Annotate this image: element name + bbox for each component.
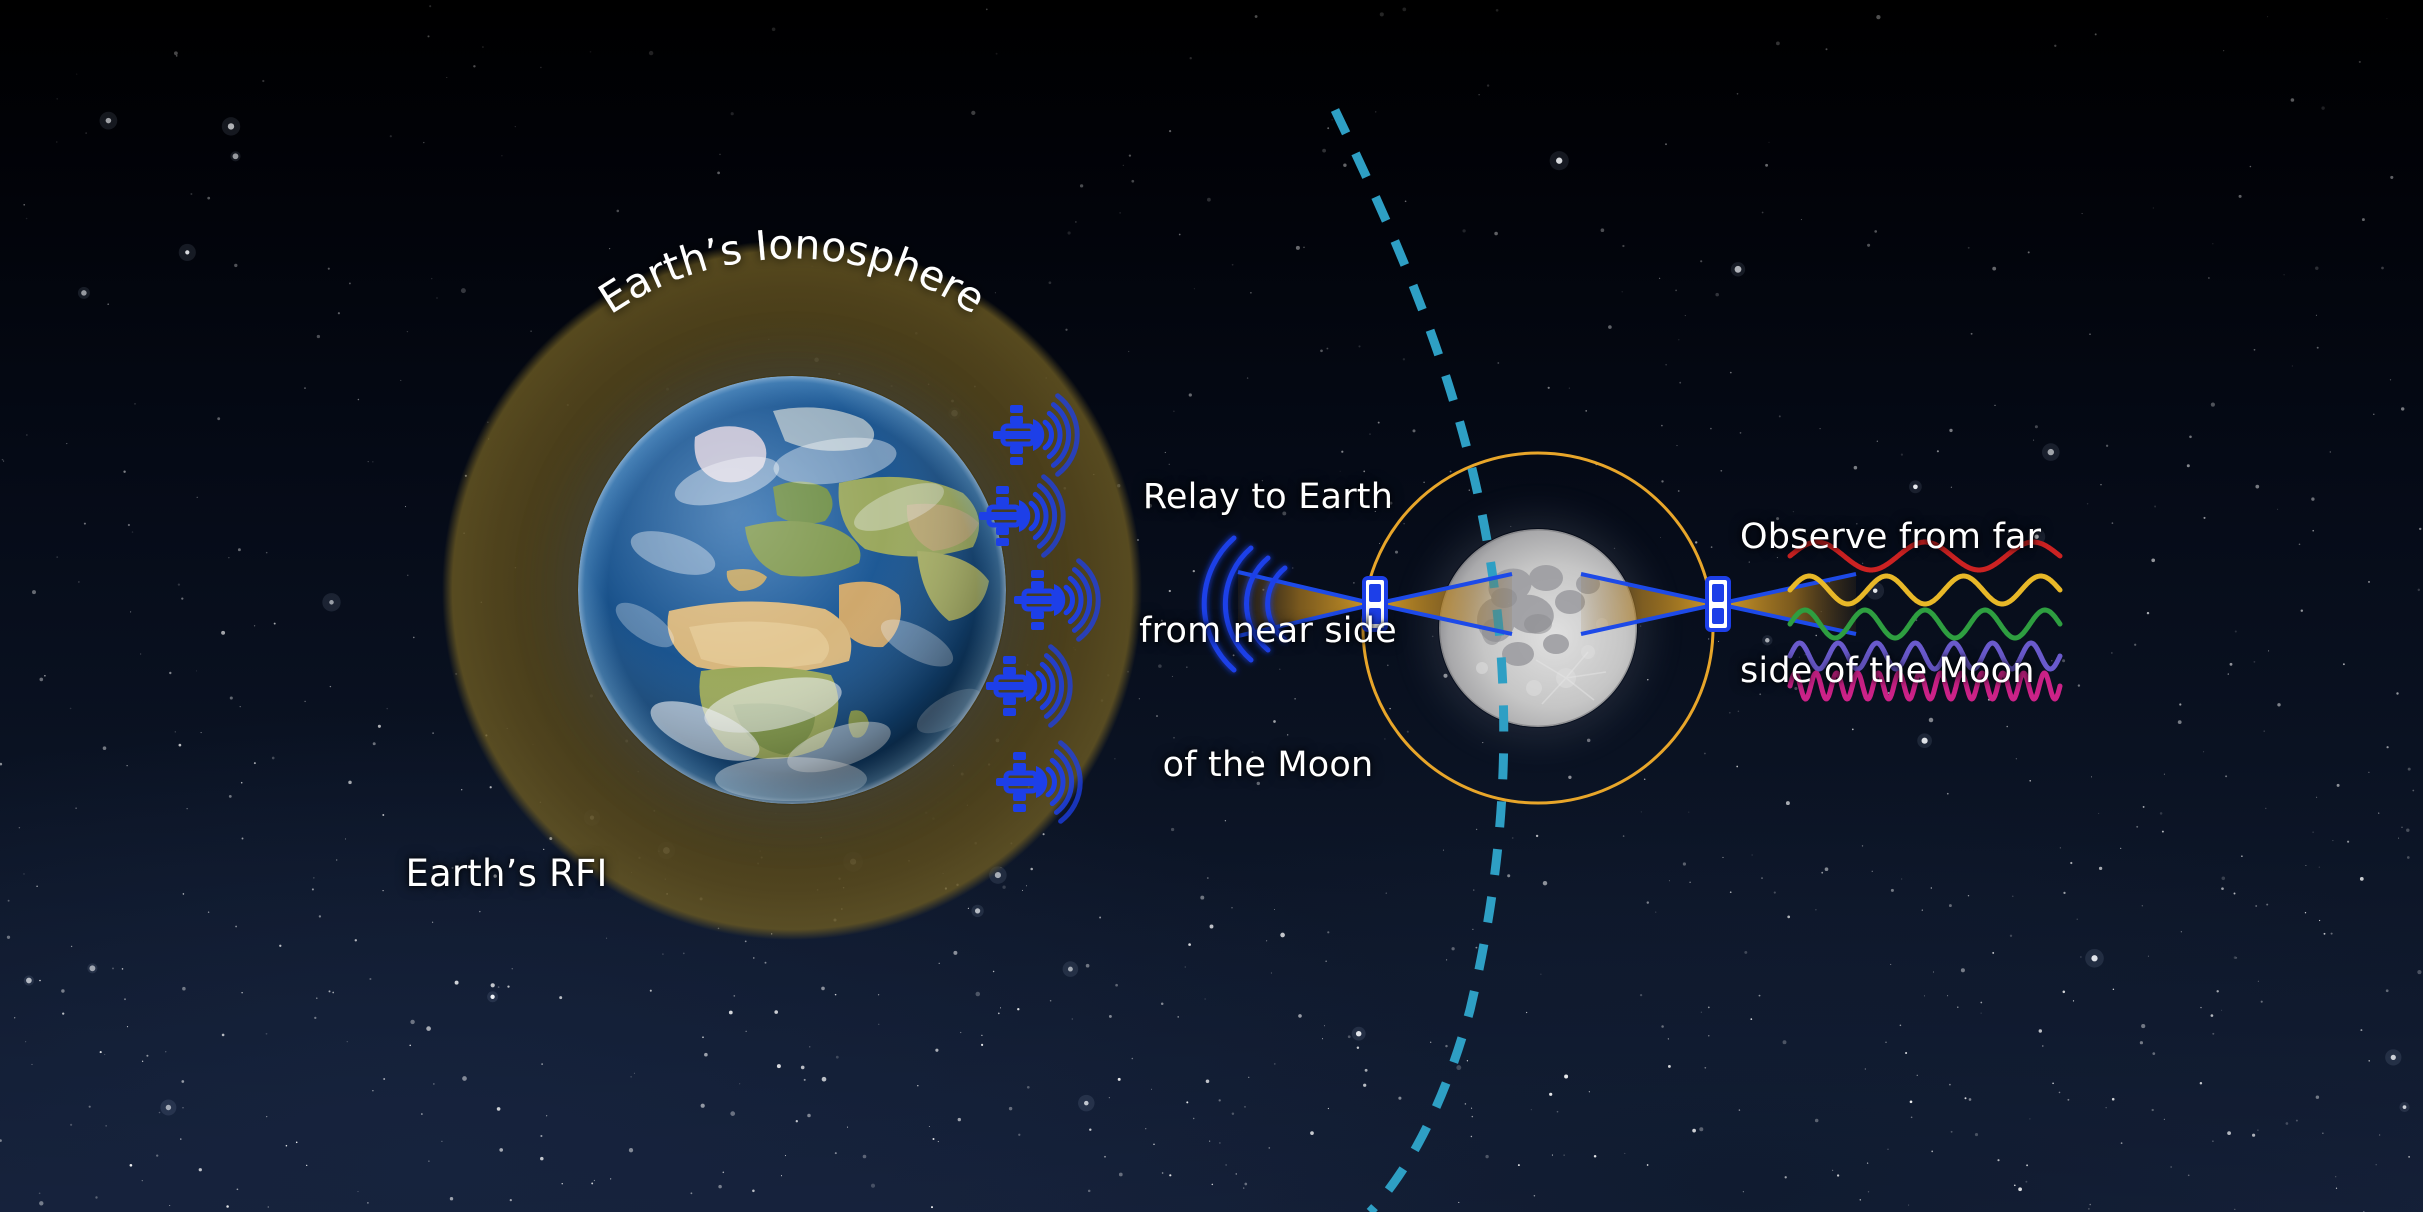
rfi-label: Earth’s RFI [0, 852, 1013, 895]
ionosphere-label: Earth’s Ionosphere [590, 220, 994, 323]
space-diagram-canvas: Earth’s Ionosphere Earth’s RFI Relay to … [0, 0, 2423, 1212]
relay-label: Relay to Earth from near side of the Moo… [1093, 385, 1443, 878]
svg-text:Earth’s Ionosphere: Earth’s Ionosphere [590, 220, 994, 323]
observe-label: Observe from far side of the Moon [1740, 425, 2140, 783]
relay-label-line2: from near side [1093, 609, 1443, 654]
relay-label-line1: Relay to Earth [1093, 475, 1443, 520]
observe-label-line1: Observe from far [1740, 515, 2140, 560]
observe-label-line2: side of the Moon [1740, 649, 2140, 694]
relay-label-line3: of the Moon [1093, 743, 1443, 788]
